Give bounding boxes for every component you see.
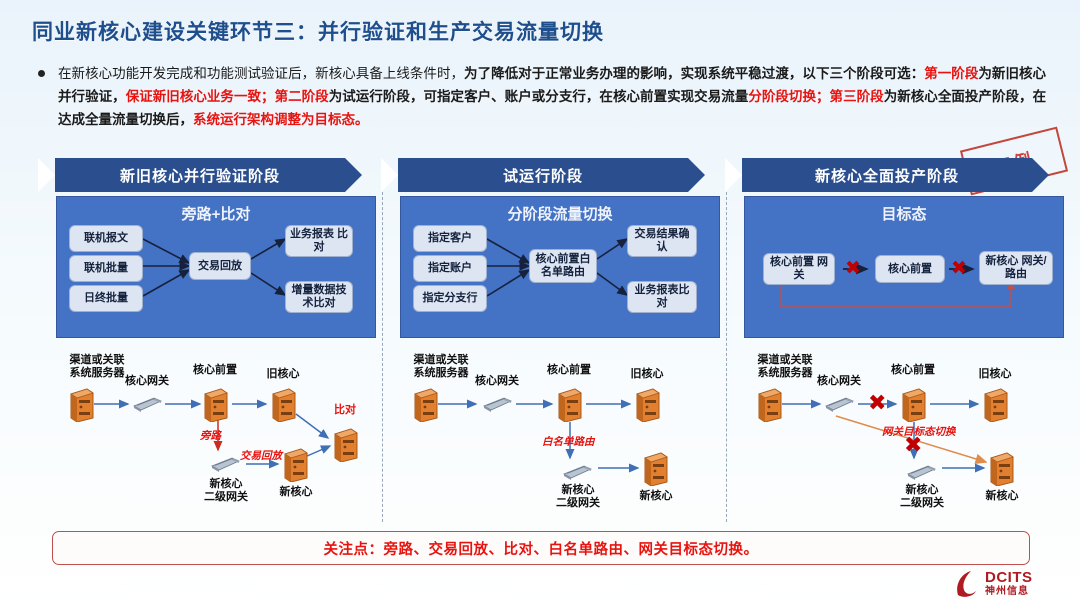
label-new-secondary-gateway: 新核心 二级网关 <box>186 478 266 504</box>
switch-icon-core-gateway <box>482 396 512 412</box>
logo-en: DCITS <box>985 570 1033 585</box>
server-icon-new-core <box>282 448 308 482</box>
label-new-secondary-gateway: 新核心 二级网关 <box>882 484 962 510</box>
x-mark-icon: ✖ <box>868 392 886 414</box>
flow-panel-2: 分阶段流量切换 指定客户 指定账户 指定分支行 核心前置白 名单路由 交易结果确… <box>400 196 720 338</box>
label-old-core: 旧核心 <box>964 368 1026 381</box>
flow-output-box[interactable]: 业务报表 比对 <box>285 225 353 257</box>
red-label-gateway-target-switch: 网关目标态切换 <box>882 424 956 439</box>
server-icon-compare <box>332 428 358 462</box>
switch-icon-new-secondary-gateway <box>562 464 592 480</box>
label-core-front: 核心前置 <box>876 364 950 377</box>
flow-output-box[interactable]: 业务报表比 对 <box>627 281 697 313</box>
x-mark-icon: ✖ <box>951 259 967 278</box>
label-new-core: 新核心 <box>972 490 1032 503</box>
server-icon-front <box>556 388 582 422</box>
red-label-whitelist-route: 白名单路由 <box>542 434 595 449</box>
label-core-gateway: 核心网关 <box>112 375 182 388</box>
flow-output-box[interactable]: 增量数据技 术比对 <box>285 281 353 313</box>
flow-panel-title-3: 目标态 <box>745 203 1063 224</box>
server-diagram-1: 渠道或关联 系统服务器 核心网关 核心前置 旧核心 新核心 二级网关 新核心 比… <box>50 342 380 526</box>
page-title: 同业新核心建设关键环节三：并行验证和生产交易流量切换 <box>32 16 992 46</box>
flow-input-box[interactable]: 指定账户 <box>413 255 487 282</box>
server-diagram-2: 渠道或关联 系统服务器 核心网关 核心前置 旧核心 新核心 二级网关 新核心 白… <box>394 342 724 526</box>
phase-column-3: 目标态 核心前置 网关 核心前置 新核心 网关/路由 ✖ ✖ <box>738 196 1068 526</box>
intro-paragraph: 在新核心功能开发完成和功能测试验证后，新核心具备上线条件时，为了降低对于正常业务… <box>58 62 1046 131</box>
flow-output-box[interactable]: 交易结果确 认 <box>627 225 697 257</box>
x-mark-icon: ✖ <box>845 259 861 278</box>
column-divider-2 <box>726 192 727 522</box>
flow-hub-box[interactable]: 核心前置白 名单路由 <box>529 249 597 283</box>
server-icon-old-core <box>270 388 296 422</box>
label-core-gateway: 核心网关 <box>804 375 874 388</box>
server-icon-new-core <box>642 452 668 486</box>
flow-hub-box[interactable]: 交易回放 <box>189 252 251 280</box>
red-label-replay: 交易回放 <box>240 448 282 463</box>
label-new-core: 新核心 <box>266 486 326 499</box>
switch-icon-new-secondary-gateway <box>210 456 240 472</box>
label-compare: 比对 <box>322 404 368 417</box>
bullet-dot-icon <box>38 70 45 77</box>
intro-paragraph-block: 在新核心功能开发完成和功能测试验证后，新核心具备上线条件时，为了降低对于正常业务… <box>36 62 1046 131</box>
server-icon-front <box>900 388 926 422</box>
server-icon-source <box>756 388 782 422</box>
label-core-front: 核心前置 <box>532 364 606 377</box>
label-new-core: 新核心 <box>626 490 686 503</box>
flow-panel-title-2: 分阶段流量切换 <box>401 203 719 224</box>
phase-banner-1[interactable]: 新旧核心并行验证阶段 <box>55 158 345 192</box>
phase-column-1: 旁路+比对 联机报文 联机批量 日终批量 交易回放 业务报表 比对 增量数据技 … <box>50 196 380 526</box>
company-logo: DCITS 神州信息 <box>952 566 1068 600</box>
phase-column-2: 分阶段流量切换 指定客户 指定账户 指定分支行 核心前置白 名单路由 交易结果确… <box>394 196 724 526</box>
logo-text: DCITS 神州信息 <box>985 570 1033 597</box>
server-icon-source <box>68 388 94 422</box>
server-icon-source <box>412 388 438 422</box>
phase-banner-2[interactable]: 试运行阶段 <box>398 158 688 192</box>
flow-input-box[interactable]: 日终批量 <box>69 285 143 312</box>
flow-chain-box[interactable]: 新核心 网关/路由 <box>979 251 1053 285</box>
red-label-bypass: 旁路 <box>200 428 221 443</box>
server-icon-old-core <box>634 388 660 422</box>
flow-chain-box[interactable]: 核心前置 <box>875 255 945 283</box>
flow-input-box[interactable]: 联机报文 <box>69 225 143 252</box>
key-points-note: 关注点：旁路、交易回放、比对、白名单路由、网关目标态切换。 <box>52 531 1030 565</box>
phase-banner-3[interactable]: 新核心全面投产阶段 <box>742 158 1032 192</box>
column-divider-1 <box>382 192 383 522</box>
server-icon-front <box>202 388 228 422</box>
label-core-gateway: 核心网关 <box>462 375 532 388</box>
server-icon-old-core <box>982 388 1008 422</box>
switch-icon-core-gateway <box>132 396 162 412</box>
flow-chain-box[interactable]: 核心前置 网关 <box>763 253 835 285</box>
flow-panel-3: 目标态 核心前置 网关 核心前置 新核心 网关/路由 ✖ ✖ <box>744 196 1064 338</box>
switch-icon-new-secondary-gateway <box>906 464 936 480</box>
server-diagram-3: ✖ ✖ 渠道或关联 系统服务器 核心网关 核心前置 旧核心 新核心 二级网关 新… <box>738 342 1068 526</box>
logo-cn: 神州信息 <box>985 587 1033 597</box>
flow-panel-1: 旁路+比对 联机报文 联机批量 日终批量 交易回放 业务报表 比对 增量数据技 … <box>56 196 376 338</box>
label-old-core: 旧核心 <box>616 368 678 381</box>
label-old-core: 旧核心 <box>253 368 313 381</box>
flow-input-box[interactable]: 指定客户 <box>413 225 487 252</box>
flow-input-box[interactable]: 指定分支行 <box>413 285 487 312</box>
flow-panel-title-1: 旁路+比对 <box>57 203 375 224</box>
label-core-front: 核心前置 <box>178 364 252 377</box>
switch-icon-core-gateway <box>824 396 854 412</box>
dcits-mark-icon <box>952 568 982 598</box>
flow-input-box[interactable]: 联机批量 <box>69 255 143 282</box>
label-new-secondary-gateway: 新核心 二级网关 <box>538 484 618 510</box>
server-icon-new-core <box>988 452 1014 486</box>
